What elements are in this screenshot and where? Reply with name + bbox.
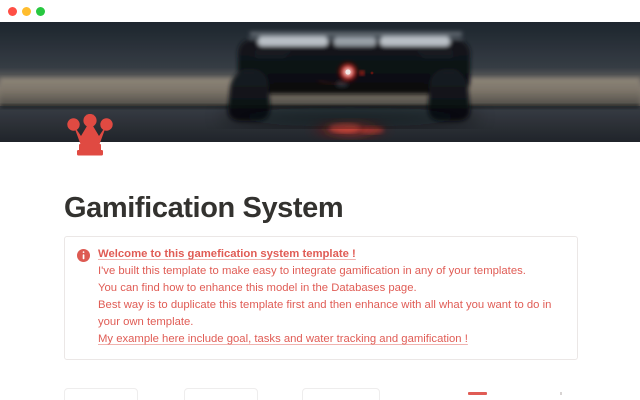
window-titlebar (0, 0, 640, 22)
red-heading-fragment (468, 392, 487, 395)
card-placeholder-3[interactable] (302, 388, 380, 400)
minimize-button[interactable] (22, 7, 31, 16)
text-fragment (560, 392, 562, 395)
info-icon-graphic (77, 249, 90, 262)
callout-title[interactable]: Welcome to this gamefication system temp… (98, 246, 565, 263)
crown-icon[interactable] (66, 114, 114, 158)
callout-line-1: I've built this template to make easy to… (98, 263, 565, 280)
card-placeholder-2[interactable] (184, 388, 258, 400)
info-icon (77, 249, 90, 262)
callout-text: Welcome to this gamefication system temp… (98, 246, 565, 348)
close-button[interactable] (8, 7, 17, 16)
crown-icon-graphic (66, 114, 114, 158)
welcome-callout[interactable]: Welcome to this gamefication system temp… (64, 236, 578, 360)
callout-line-2: You can find how to enhance this model i… (98, 280, 565, 297)
callout-line-3: Best way is to duplicate this template f… (98, 297, 565, 331)
page-title[interactable]: Gamification System (64, 192, 343, 225)
callout-line-4[interactable]: My example here include goal, tasks and … (98, 331, 565, 348)
page-content: Gamification System Welcome to this game… (0, 142, 640, 400)
traffic-light-group (0, 7, 45, 16)
card-placeholder-1[interactable] (64, 388, 138, 400)
zoom-button[interactable] (36, 7, 45, 16)
below-fold-cards (0, 388, 640, 400)
